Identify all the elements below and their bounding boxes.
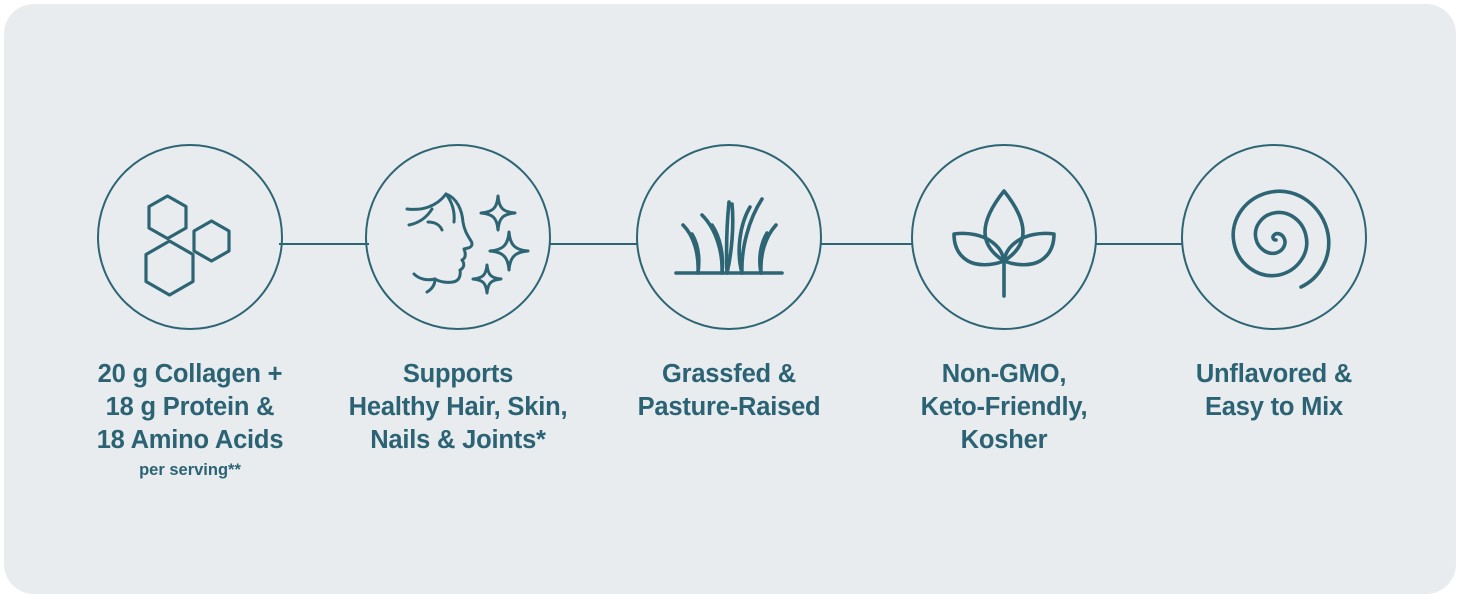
feature-label-line: Grassfed & — [592, 358, 866, 391]
feature-label: Supports Healthy Hair, Skin, Nails & Joi… — [321, 358, 595, 457]
feature-item-unflavored: Unflavored & Easy to Mix — [1137, 144, 1411, 424]
feature-label: 20 g Collagen + 18 g Protein & 18 Amino … — [53, 358, 327, 457]
feature-label: Grassfed & Pasture-Raised — [592, 358, 866, 424]
feature-row: 20 g Collagen + 18 g Protein & 18 Amino … — [4, 4, 1456, 594]
feature-icon-circle — [1181, 144, 1367, 330]
feature-label-line: Kosher — [867, 424, 1141, 457]
feature-icon-circle — [97, 144, 283, 330]
feature-label-line: Unflavored & — [1137, 358, 1411, 391]
feature-label: Unflavored & Easy to Mix — [1137, 358, 1411, 424]
feature-item-collagen: 20 g Collagen + 18 g Protein & 18 Amino … — [53, 144, 327, 481]
feature-label-line: 20 g Collagen + — [53, 358, 327, 391]
feature-label: Non-GMO, Keto-Friendly, Kosher — [867, 358, 1141, 457]
feature-label-line: Healthy Hair, Skin, — [321, 391, 595, 424]
feature-item-non-gmo: Non-GMO, Keto-Friendly, Kosher — [867, 144, 1141, 457]
spiral-swirl-icon — [1181, 144, 1367, 330]
collagen-molecule-hexagons-icon — [97, 144, 283, 330]
feature-icon-circle — [636, 144, 822, 330]
feature-label-line: Pasture-Raised — [592, 391, 866, 424]
feature-label-line: Non-GMO, — [867, 358, 1141, 391]
feature-label-line: 18 g Protein & — [53, 391, 327, 424]
feature-label-line: Easy to Mix — [1137, 391, 1411, 424]
feature-item-hair-skin-nails: Supports Healthy Hair, Skin, Nails & Joi… — [321, 144, 595, 457]
face-profile-sparkles-icon — [365, 144, 551, 330]
feature-label-line: Supports — [321, 358, 595, 391]
feature-footnote: per serving** — [53, 459, 327, 481]
plant-leaves-sprout-icon — [911, 144, 1097, 330]
feature-item-grassfed: Grassfed & Pasture-Raised — [592, 144, 866, 424]
feature-icon-circle — [365, 144, 551, 330]
feature-label-line: Keto-Friendly, — [867, 391, 1141, 424]
grass-blades-icon — [636, 144, 822, 330]
feature-icon-circle — [911, 144, 1097, 330]
feature-label-line: 18 Amino Acids — [53, 424, 327, 457]
feature-label-line: Nails & Joints* — [321, 424, 595, 457]
feature-panel: 20 g Collagen + 18 g Protein & 18 Amino … — [4, 4, 1456, 594]
